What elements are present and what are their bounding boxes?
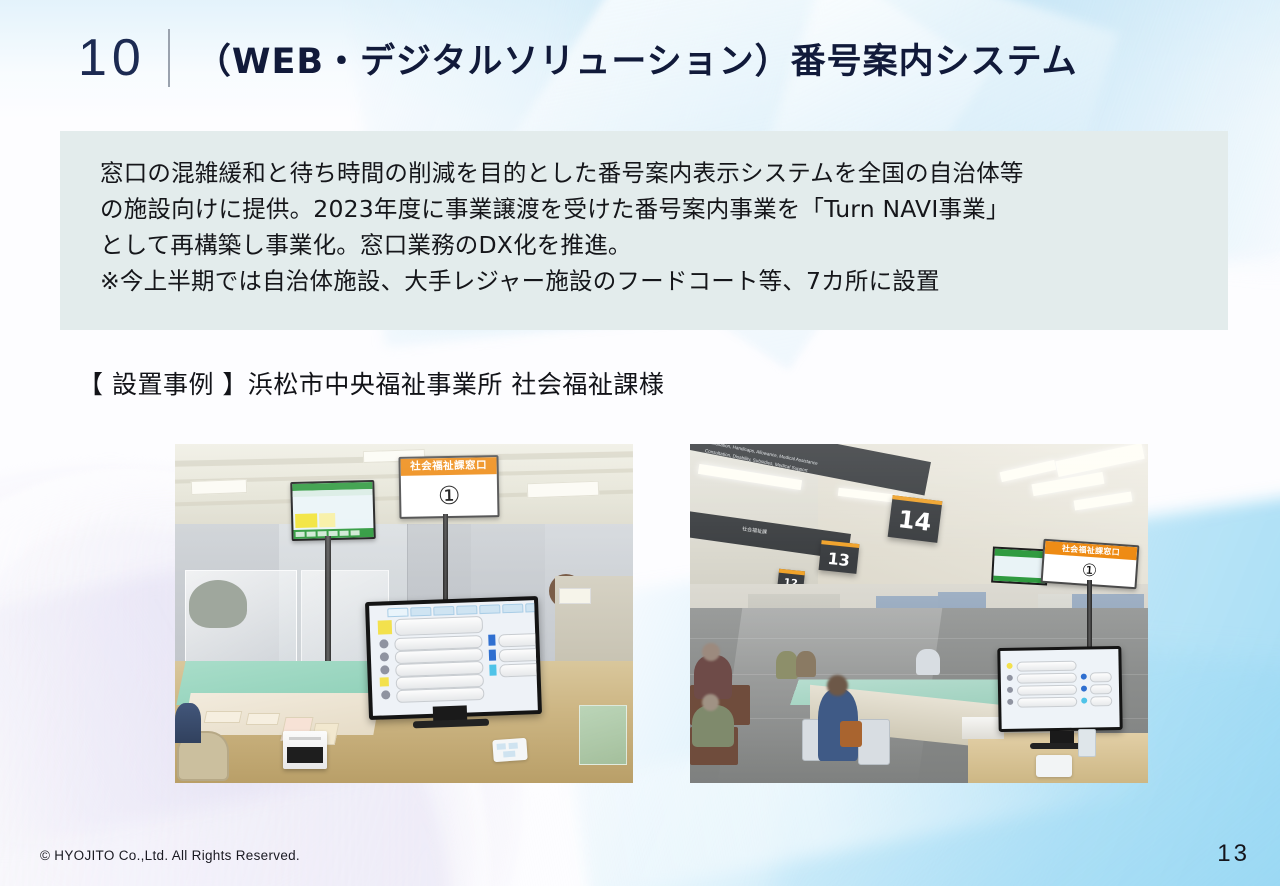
description-panel: 窓口の混雑緩和と待ち時間の削減を目的とした番号案内表示システムを全国の自治体等 …: [60, 131, 1228, 330]
page-title: （WEB・デジタルソリューション）番号案内システム: [196, 33, 1078, 84]
installation-example-caption: 【 設置事例 】浜松市中央福祉事業所 社会福祉課様: [78, 365, 664, 401]
copyright-text: © HYOJITO Co.,Ltd. All Rights Reserved.: [40, 848, 300, 863]
page-number: 13: [1217, 840, 1250, 868]
installation-photo-right: Consultation, Handicaps, Allowance, Medi…: [690, 444, 1148, 783]
slide-header: 10 （WEB・デジタルソリューション）番号案内システム: [78, 22, 1078, 94]
title-divider: [168, 29, 170, 87]
description-line-2: の施設向けに提供。2023年度に事業譲渡を受けた番号案内事業を「Turn NAV…: [100, 191, 1194, 227]
slide-canvas: 10 （WEB・デジタルソリューション）番号案内システム 窓口の混雑緩和と待ち時…: [0, 0, 1280, 886]
installation-photo-left: 社会福祉課窓口 ①: [175, 444, 633, 783]
description-line-1: 窓口の混雑緩和と待ち時間の削減を目的とした番号案内表示システムを全国の自治体等: [100, 155, 1194, 191]
slide-number: 10: [78, 32, 146, 84]
photo-light-haze: [175, 444, 633, 783]
description-line-4: ※今上半期では自治体施設、大手レジャー施設のフードコート等、7カ所に設置: [100, 263, 1194, 299]
description-line-3: として再構築し事業化。窓口業務のDX化を推進。: [100, 227, 1194, 263]
photo-light-haze: [690, 444, 1148, 783]
